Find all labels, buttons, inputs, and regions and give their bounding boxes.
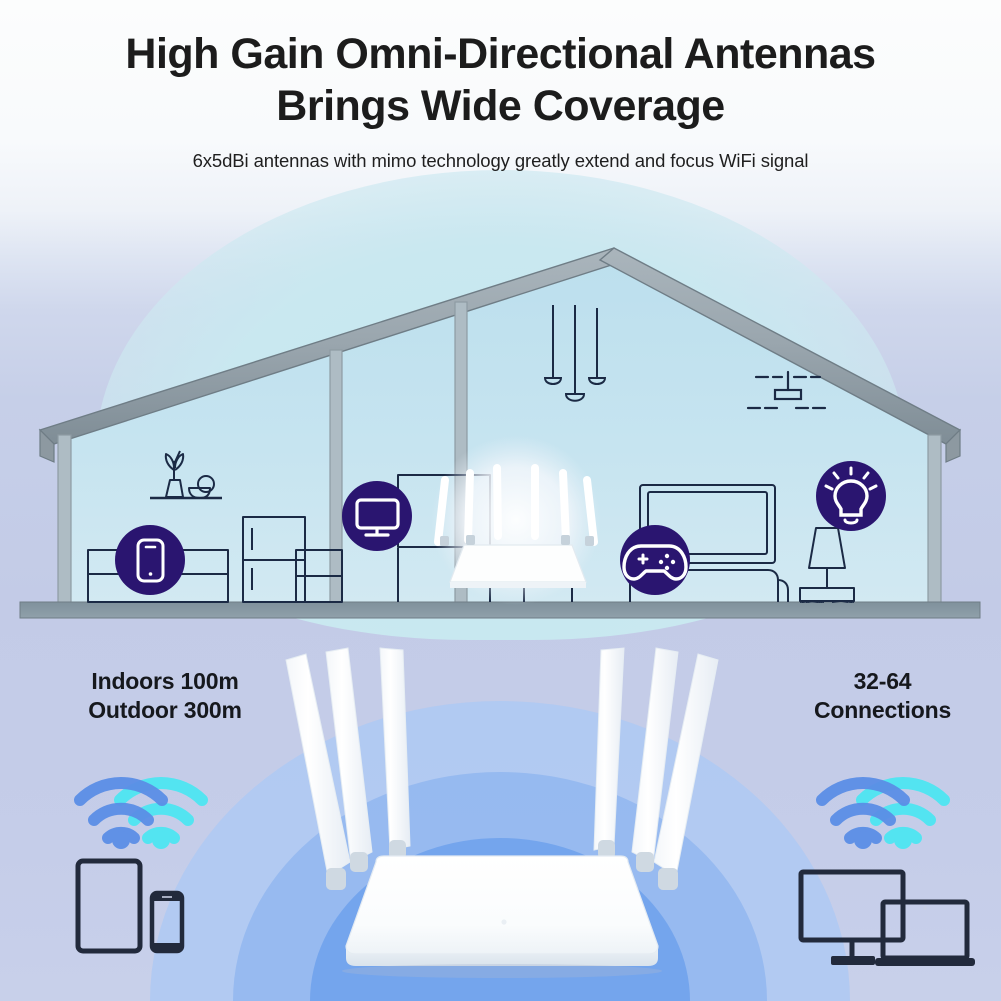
- gamepad-badge[interactable]: [620, 525, 690, 595]
- house-floor: [20, 602, 980, 618]
- monitor-badge[interactable]: [342, 481, 412, 551]
- router-product-image: [272, 640, 732, 990]
- router-top-face: [346, 856, 658, 954]
- monitor-stand: [831, 956, 875, 965]
- caption-connections-line1: 32-64: [775, 667, 990, 696]
- caption-connections-line2: Connections: [775, 696, 990, 725]
- laptop-icon: [875, 902, 975, 966]
- smartphone-icon: [152, 893, 182, 951]
- page-subtitle: 6x5dBi antennas with mimo technology gre…: [0, 150, 1001, 172]
- router-led: [501, 919, 506, 924]
- caption-range-line1: Indoors 100m: [40, 667, 290, 696]
- product-feature-banner: High Gain Omni-Directional Antennas Brin…: [0, 0, 1001, 1001]
- page-title-line2: Brings Wide Coverage: [0, 80, 1001, 132]
- client-devices-right: [795, 862, 980, 974]
- caption-connections: 32-64 Connections: [775, 667, 990, 725]
- caption-range: Indoors 100m Outdoor 300m: [40, 667, 290, 725]
- antenna-group: [286, 648, 718, 876]
- smartphone-badge[interactable]: [115, 525, 185, 595]
- wifi-signal-right: [812, 752, 977, 852]
- router-shadow: [342, 964, 662, 978]
- caption-range-line2: Outdoor 300m: [40, 696, 290, 725]
- house-cutaway-illustration: [0, 230, 1001, 630]
- monitor-icon: [801, 872, 903, 956]
- lightbulb-badge[interactable]: [816, 461, 886, 531]
- header: High Gain Omni-Directional Antennas Brin…: [0, 0, 1001, 172]
- wifi-signal-left: [70, 752, 235, 852]
- page-title-line1: High Gain Omni-Directional Antennas: [0, 28, 1001, 80]
- client-devices-left: [72, 855, 232, 975]
- tablet-icon: [78, 861, 140, 951]
